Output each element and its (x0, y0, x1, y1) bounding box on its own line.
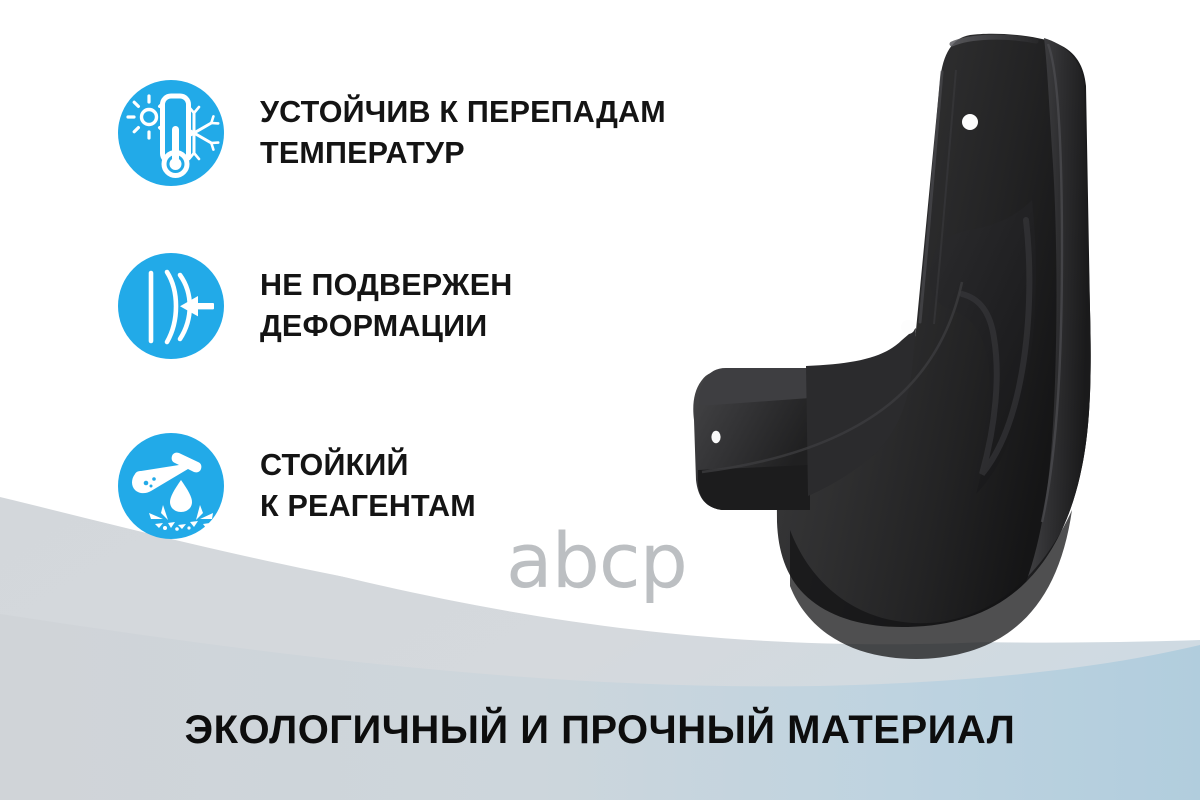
flex-arrow-deformation-icon (118, 253, 224, 359)
product-image (640, 10, 1160, 660)
feature-label: УСТОЙЧИВ К ПЕРЕПАДАМ ТЕМПЕРАТУР (260, 92, 666, 173)
feature-item-reagents: СТОЙКИЙ К РЕАГЕНТАМ (118, 433, 476, 539)
flask-droplet-splash-icon (118, 433, 224, 539)
arrow-left-glyph (180, 296, 214, 316)
feature-list: УСТОЙЧИВ К ПЕРЕПАДАМ ТЕМПЕРАТУР (0, 0, 700, 620)
thermometer-glyph (163, 96, 189, 176)
droplet-glyph (170, 480, 192, 512)
flask-glyph (132, 453, 201, 494)
caption-banner: ЭКОЛОГИЧНЫЙ И ПРОЧНЫЙ МАТЕРИАЛ (0, 690, 1200, 770)
mount-hole (711, 431, 720, 443)
product-feature-banner: abcp (0, 0, 1200, 800)
flange-under-lip (698, 465, 810, 510)
feature-item-deformation: НЕ ПОДВЕРЖЕН ДЕФОРМАЦИИ (118, 253, 512, 359)
feature-label: НЕ ПОДВЕРЖЕН ДЕФОРМАЦИИ (260, 265, 512, 346)
mount-hole (962, 114, 978, 130)
feature-item-temperature: УСТОЙЧИВ К ПЕРЕПАДАМ ТЕМПЕРАТУР (118, 80, 666, 186)
mount-hole (901, 320, 915, 334)
caption-text: ЭКОЛОГИЧНЫЙ И ПРОЧНЫЙ МАТЕРИАЛ (185, 708, 1016, 753)
feature-label: СТОЙКИЙ К РЕАГЕНТАМ (260, 445, 476, 526)
thermometer-sun-snowflake-icon (118, 80, 224, 186)
